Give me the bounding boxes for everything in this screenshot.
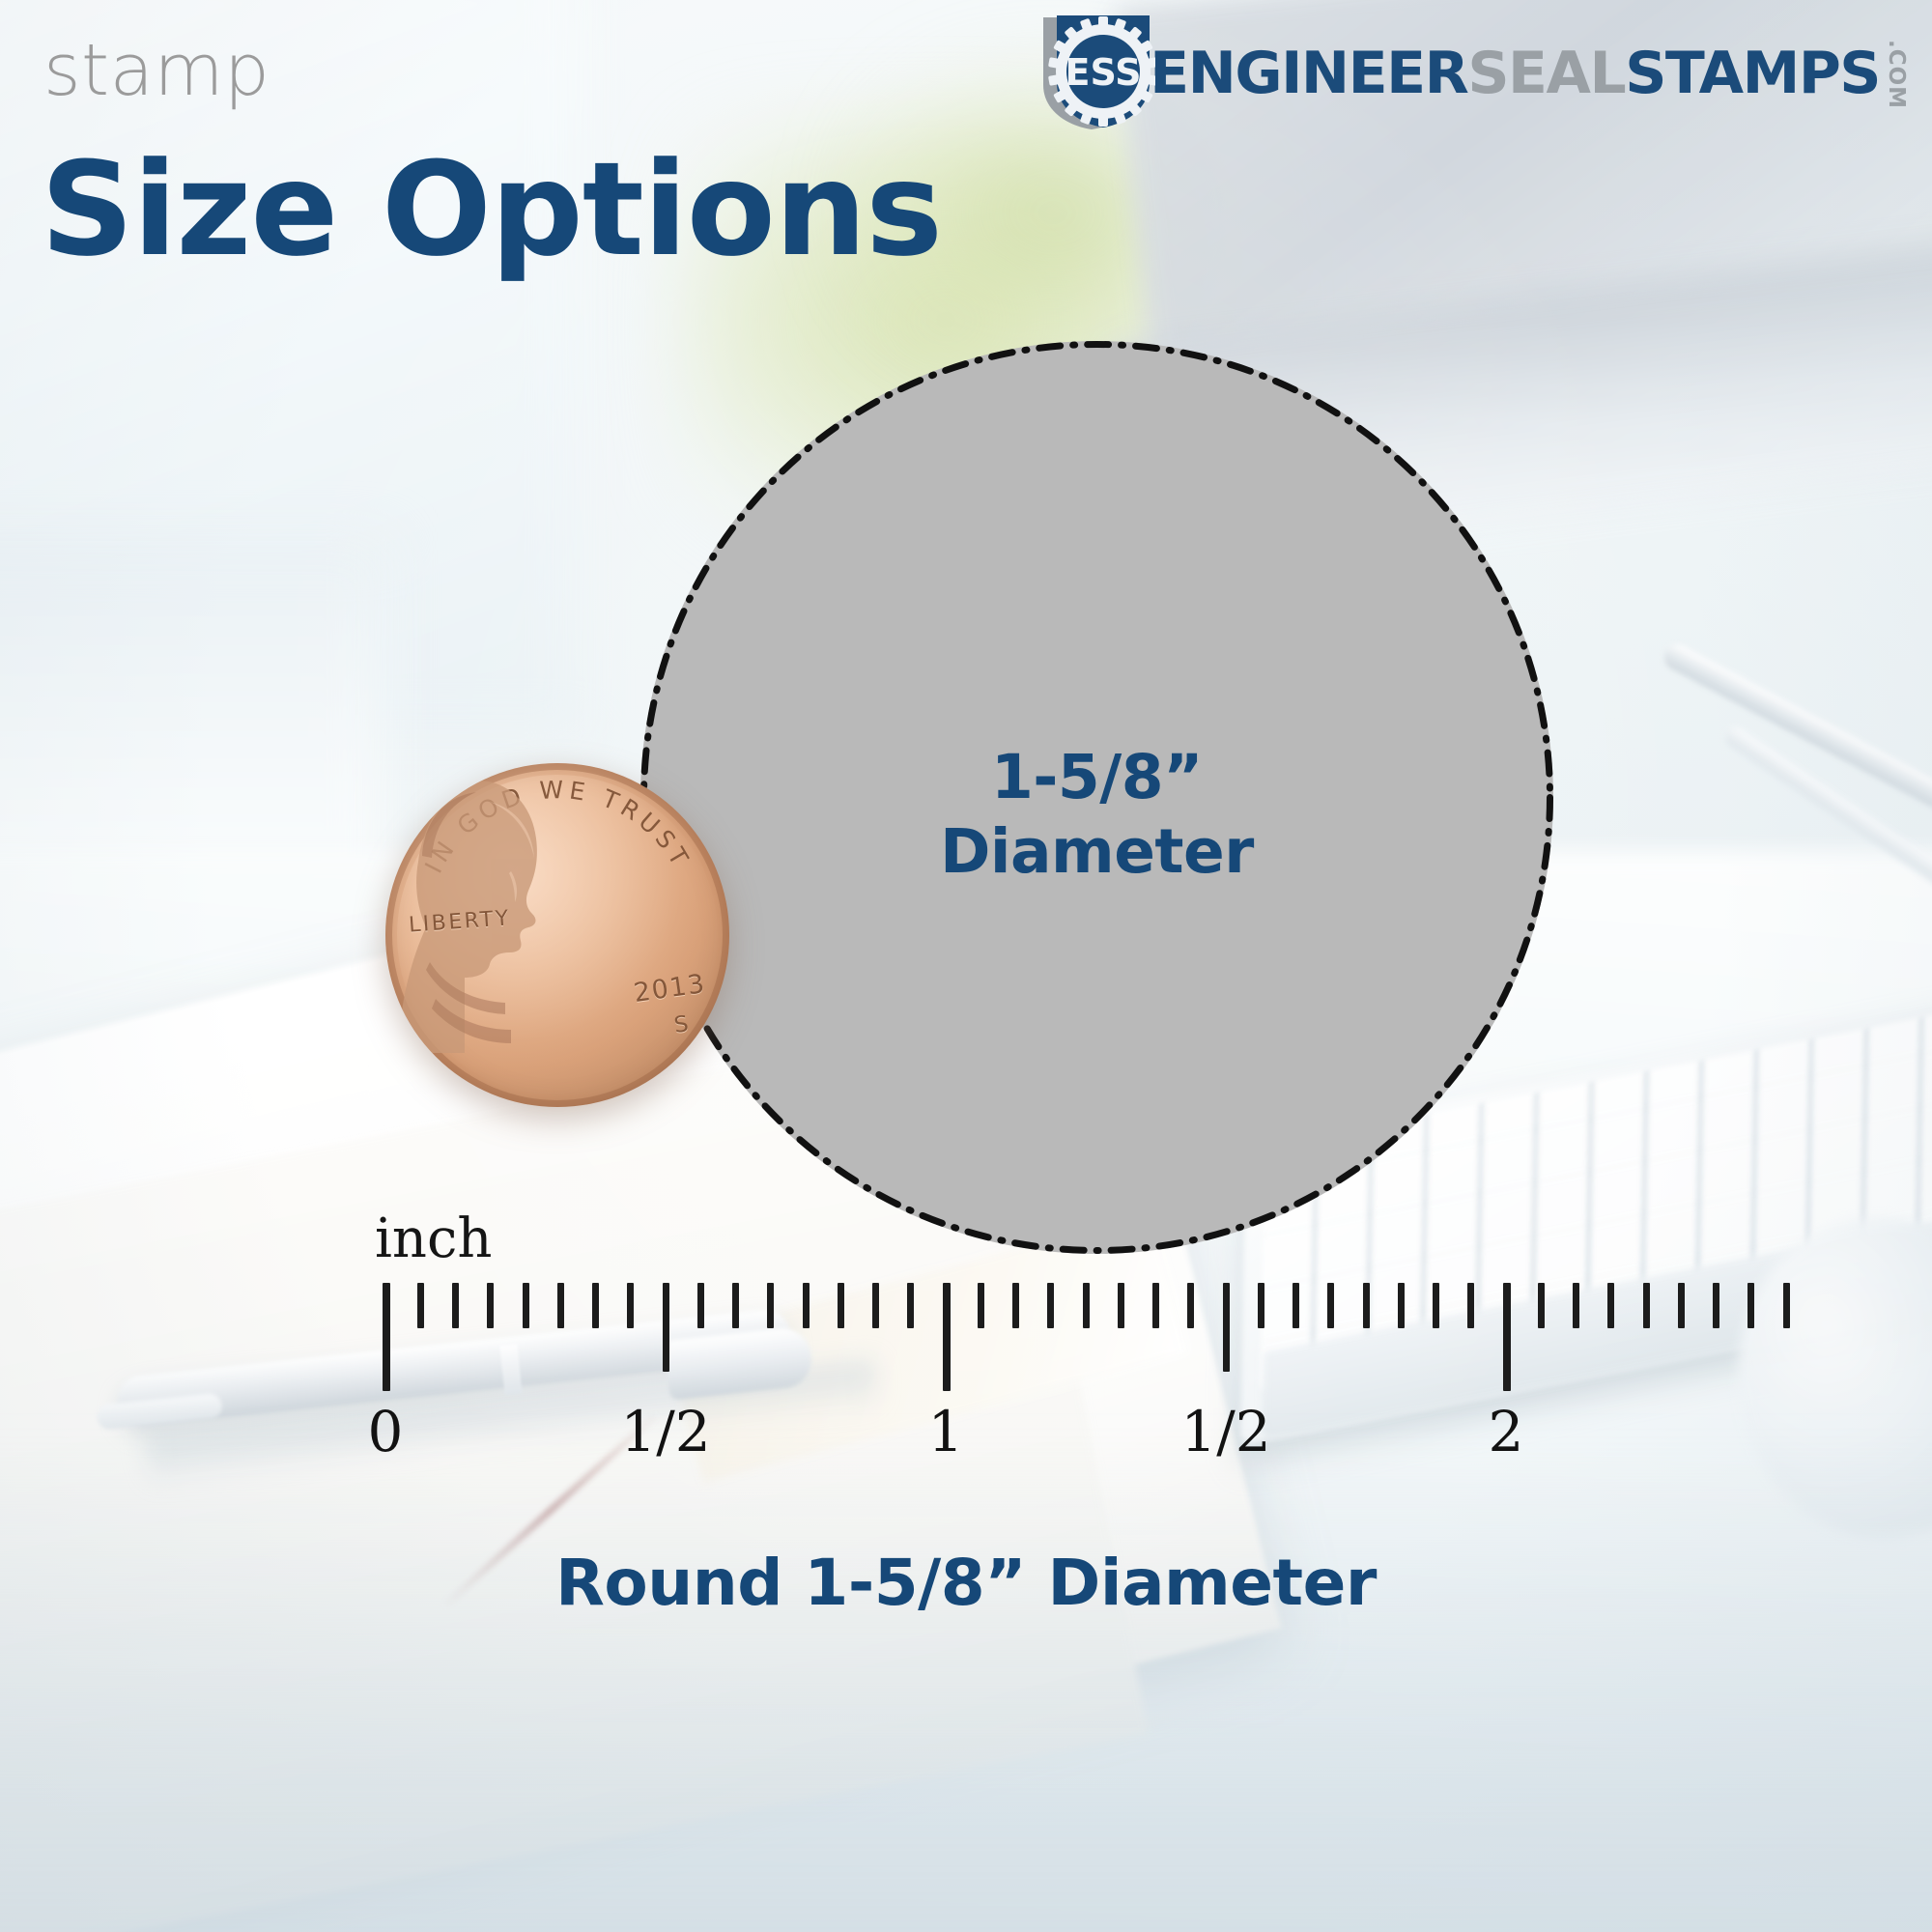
penny-coin: IN GOD WE TRUST LIBERTY 2013 S [385,763,729,1107]
size-caption: Round 1-5/8” Diameter [0,1546,1932,1620]
brand-word: stamp [43,29,270,112]
logo-domain-suffix: .COM [1885,40,1907,109]
svg-text:ESS: ESS [1065,51,1142,94]
ess-gear-shield-icon: ESS [1032,14,1155,133]
stamp-size-circle: 1-5/8” Diameter [640,341,1553,1254]
ess-logo[interactable]: ESS ENGINEER SEAL STAMPS .COM [1032,14,1907,133]
size-options-graphic: stamp Size Options [0,0,1932,1932]
ruler-unit-label: inch [375,1207,492,1270]
circle-size-line-1: 1-5/8” [640,742,1553,816]
page-title: Size Options [41,145,942,274]
circle-size-line-2: Diameter [640,815,1553,890]
ess-logo-wordmark: ENGINEER SEAL STAMPS .COM [1150,38,1907,109]
logo-word-engineer: ENGINEER [1150,44,1467,102]
logo-word-seal: SEAL [1467,44,1625,102]
circle-size-label: 1-5/8” Diameter [640,742,1553,891]
logo-word-stamps: STAMPS [1625,44,1880,102]
